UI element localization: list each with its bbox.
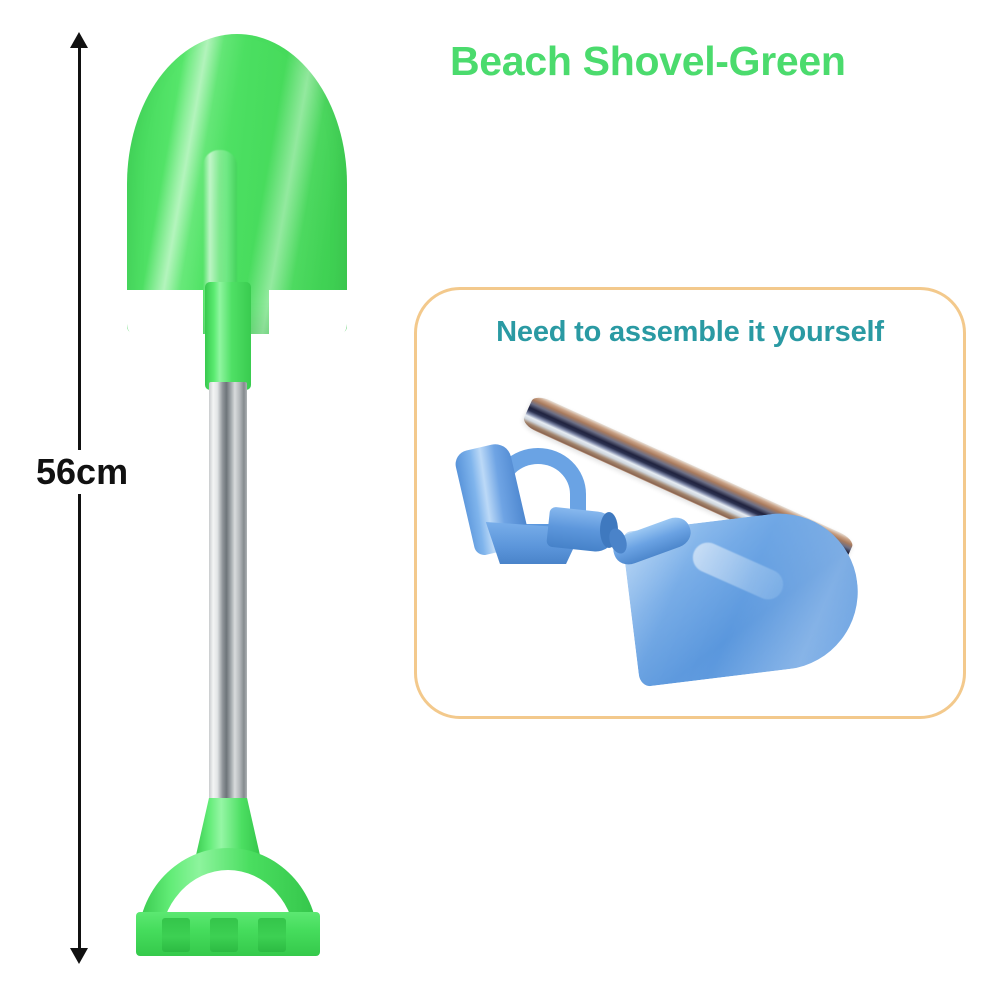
product-photo-green-shovel [110,30,370,970]
dimension-line [78,42,81,958]
grip-groove [258,918,286,952]
green-blade-socket [205,282,251,390]
assembly-caption: Need to assemble it yourself [417,316,963,349]
product-image-canvas: Beach Shovel-Green 56cm Need to assemble… [0,0,1000,1000]
page-title: Beach Shovel-Green [450,38,970,85]
steel-shaft [209,382,247,802]
blue-handle-part [452,438,612,568]
grip-groove [162,918,190,952]
grip-groove [210,918,238,952]
arrow-down-icon [70,948,88,964]
blade-notch-left [127,290,203,338]
blade-notch-right [269,290,347,338]
blue-blade-part [612,508,874,686]
